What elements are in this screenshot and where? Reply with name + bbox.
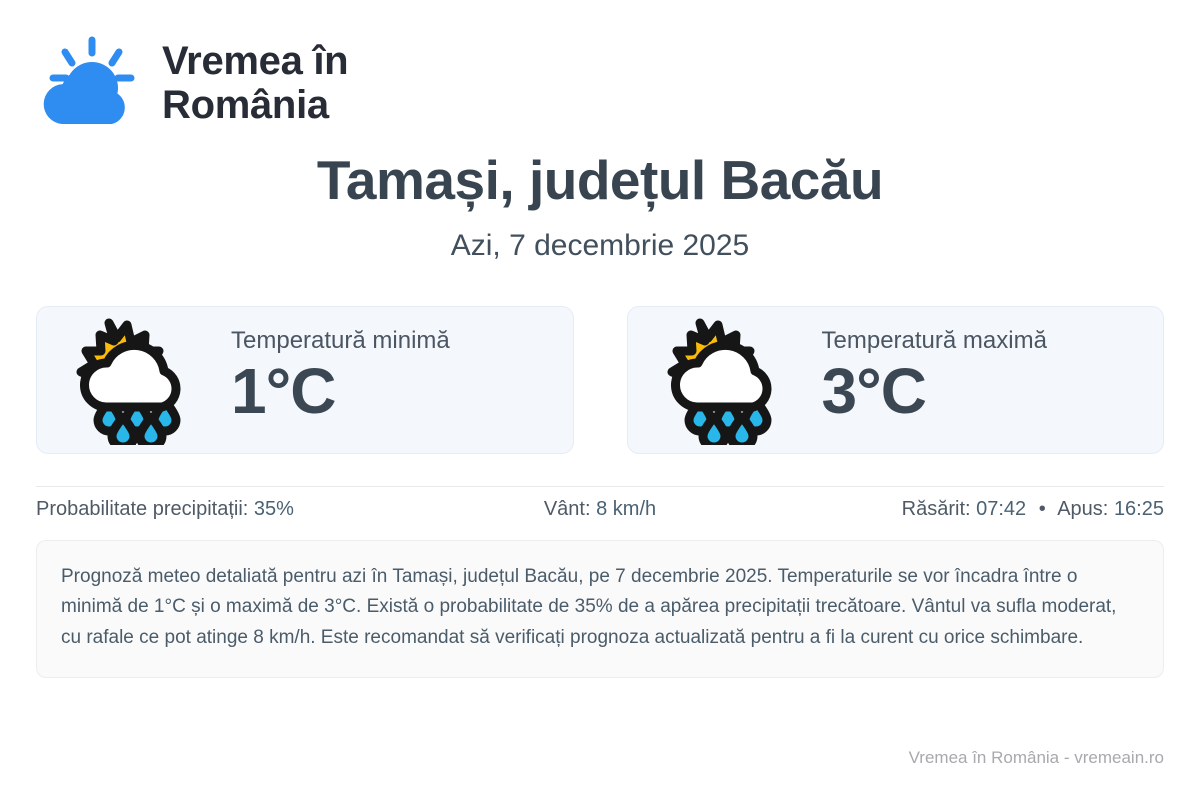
precipitation-label: Probabilitate precipitații: bbox=[36, 498, 248, 520]
min-temperature-card: Temperatură minimă 1°C bbox=[36, 306, 574, 454]
sun-behind-rain-cloud-icon bbox=[656, 315, 804, 445]
precipitation-value: 35% bbox=[254, 498, 294, 520]
min-temperature-body: Temperatură minimă 1°C bbox=[231, 327, 450, 431]
max-temperature-label: Temperatură maximă bbox=[822, 327, 1047, 356]
precipitation-stat: Probabilitate precipitații: 35% bbox=[36, 498, 412, 521]
weather-stats-row: Probabilitate precipitații: 35% Vânt: 8 … bbox=[36, 487, 1164, 532]
weather-page: Vremea în România Tamași, județul Bacău … bbox=[0, 0, 1200, 800]
max-temperature-card: Temperatură maximă 3°C bbox=[627, 306, 1165, 454]
sunrise-label: Răsărit: bbox=[902, 498, 971, 520]
sun-behind-cloud-icon bbox=[36, 36, 140, 132]
sunset-label: Apus: bbox=[1057, 498, 1108, 520]
site-logo[interactable]: Vremea în România bbox=[36, 0, 1164, 118]
logo-line-1: Vremea în bbox=[162, 40, 348, 84]
wind-value: 8 km/h bbox=[596, 498, 656, 520]
sun-times-separator: • bbox=[1032, 498, 1053, 520]
sun-behind-rain-cloud-icon bbox=[65, 315, 213, 445]
logo-line-2: România bbox=[162, 84, 348, 128]
min-temperature-label: Temperatură minimă bbox=[231, 327, 450, 356]
max-temperature-body: Temperatură maximă 3°C bbox=[822, 327, 1047, 431]
site-logo-text: Vremea în România bbox=[162, 40, 348, 127]
sunrise-value: 07:42 bbox=[976, 498, 1026, 520]
wind-stat: Vânt: 8 km/h bbox=[412, 498, 788, 521]
max-temperature-value: 3°C bbox=[822, 356, 1047, 428]
temperature-cards: Temperatură minimă 1°C Temperatură maxim… bbox=[36, 306, 1164, 454]
page-subtitle: Azi, 7 decembrie 2025 bbox=[36, 229, 1164, 263]
min-temperature-value: 1°C bbox=[231, 356, 450, 428]
wind-label: Vânt: bbox=[544, 498, 591, 520]
page-title: Tamași, județul Bacău bbox=[36, 150, 1164, 211]
sun-times-stat: Răsărit: 07:42 • Apus: 16:25 bbox=[788, 498, 1164, 521]
forecast-description: Prognoză meteo detaliată pentru azi în T… bbox=[36, 540, 1164, 678]
sunset-value: 16:25 bbox=[1114, 498, 1164, 520]
footer-credit: Vremea în România - vremeain.ro bbox=[909, 748, 1164, 768]
